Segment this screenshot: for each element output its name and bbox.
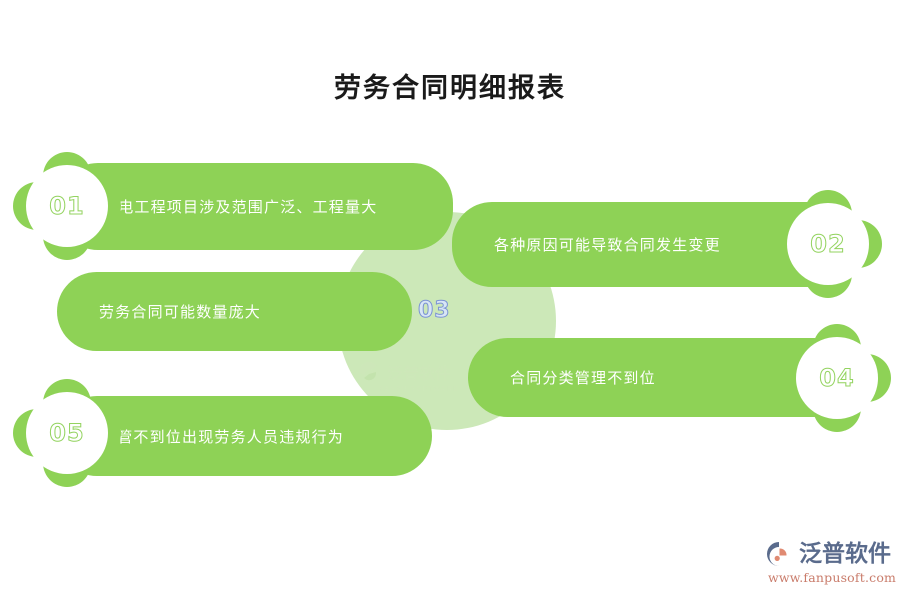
list-item-label: 劳务合同可能数量庞大 bbox=[99, 301, 261, 322]
badge-number: 02 bbox=[810, 230, 845, 258]
badge-core: 02 bbox=[787, 203, 869, 285]
list-item-label: 监管不到位出现劳务人员违规行为 bbox=[101, 426, 344, 447]
brand-url: www.fanpusoft.com bbox=[768, 570, 894, 585]
brand-mark-icon bbox=[766, 540, 794, 568]
list-item[interactable]: 劳务合同可能数量庞大 bbox=[57, 272, 412, 351]
list-item-label: 机电工程项目涉及范围广泛、工程量大 bbox=[102, 196, 377, 217]
page-title: 劳务合同明细报表 bbox=[0, 66, 900, 105]
badge-core: 04 bbox=[796, 337, 878, 419]
infographic-canvas: 劳务合同明细报表 泛普软件 FANPU SOFTWARE 机电工程项目涉及范围广… bbox=[0, 0, 900, 600]
badge-number: 04 bbox=[819, 364, 854, 392]
brand-name: 泛普软件 bbox=[799, 543, 891, 566]
brand-logo: 泛普软件 www.fanpusoft.com bbox=[766, 540, 894, 588]
badge-core: 05 bbox=[26, 392, 108, 474]
badge-number: 01 bbox=[49, 192, 84, 220]
badge-number: 05 bbox=[49, 419, 84, 447]
list-item-label: 合同分类管理不到位 bbox=[510, 367, 656, 388]
step-badge-03: 03 bbox=[418, 298, 451, 323]
step-badge-05[interactable]: 05 bbox=[13, 379, 121, 487]
step-badge-01[interactable]: 01 bbox=[13, 152, 121, 260]
step-badge-02[interactable]: 02 bbox=[774, 190, 882, 298]
step-badge-04[interactable]: 04 bbox=[783, 324, 891, 432]
list-item-label: 各种原因可能导致合同发生变更 bbox=[494, 234, 721, 255]
badge-core: 01 bbox=[26, 165, 108, 247]
